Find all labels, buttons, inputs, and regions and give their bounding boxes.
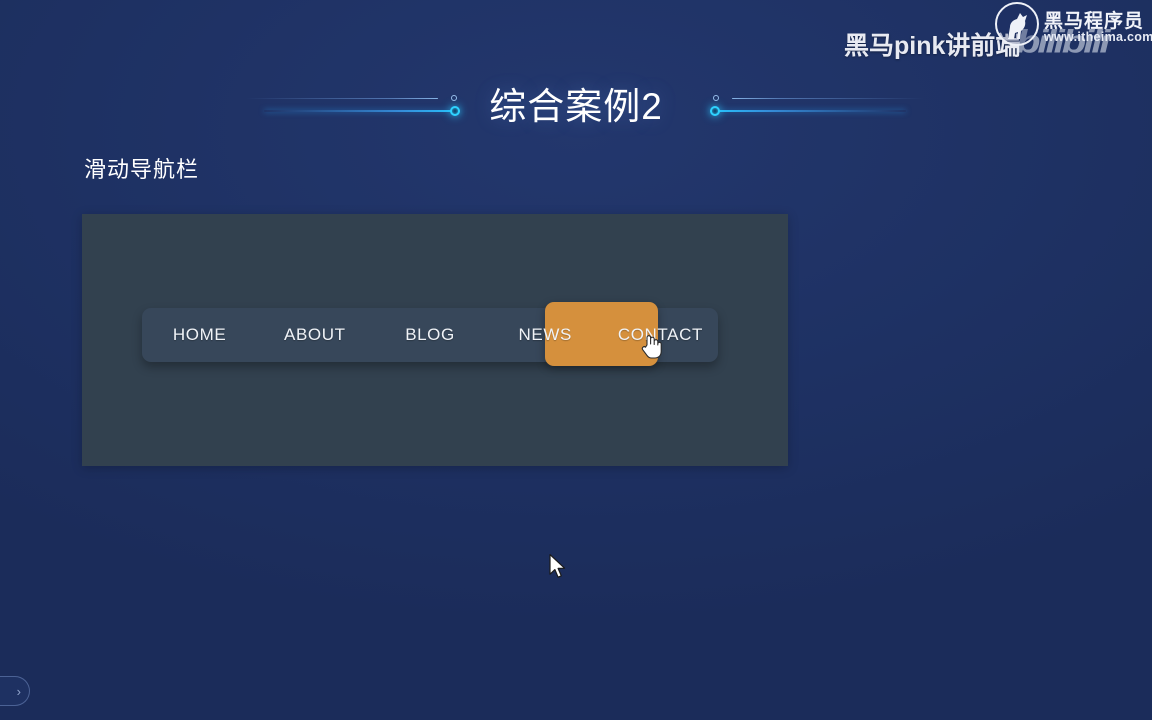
bilibili-logo-icon: bilibili [1016, 24, 1108, 61]
sliding-navigation-bar[interactable]: HOME ABOUT BLOG NEWS CONTACT [142, 308, 718, 362]
demo-panel: HOME ABOUT BLOG NEWS CONTACT [82, 214, 788, 466]
arrow-cursor [548, 553, 568, 580]
watermark-slogan: 黑马pink讲前端 [844, 26, 1020, 62]
horse-logo-icon [995, 2, 1039, 46]
nav-list: HOME ABOUT BLOG NEWS CONTACT [142, 308, 718, 362]
nav-item-about[interactable]: ABOUT [257, 325, 372, 345]
watermark-url: www.itheima.com [1044, 30, 1152, 44]
watermark: 黑马pink讲前端 bilibili 黑马程序员 www.itheima.com [840, 0, 1152, 70]
section-subtitle: 滑动导航栏 [84, 152, 199, 184]
horse-glyph-icon [1004, 9, 1030, 41]
nav-item-news[interactable]: NEWS [488, 325, 603, 345]
panel-expand-toggle[interactable]: › [0, 676, 30, 706]
nav-item-contact[interactable]: CONTACT [603, 325, 718, 345]
nav-item-blog[interactable]: BLOG [372, 325, 487, 345]
chevron-right-icon: › [17, 685, 21, 698]
page-title: 综合案例2 [0, 76, 1152, 130]
watermark-brand: 黑马程序员 [1044, 6, 1144, 33]
nav-item-home[interactable]: HOME [142, 325, 257, 345]
